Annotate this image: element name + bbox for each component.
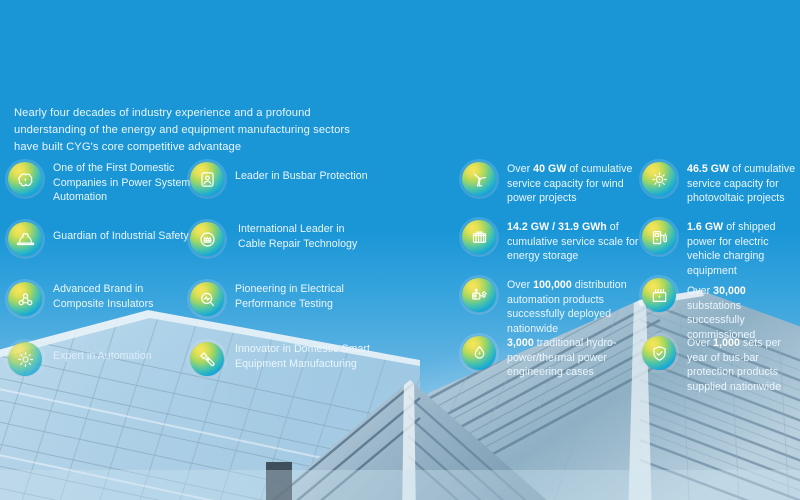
list-item-label: Advanced Brand in Composite Insulators xyxy=(42,280,193,311)
stat-item-label: Over 1,000 sets per year of bus-bar prot… xyxy=(676,334,800,394)
list-item-label: One of the First Domestic Companies in P… xyxy=(42,160,193,205)
ev-charger-icon xyxy=(642,220,676,254)
stat-item[interactable]: 46.5 GW of cumulative service capacity f… xyxy=(642,160,800,218)
energy-storage-icon xyxy=(462,220,496,254)
busbar-protection-icon xyxy=(190,162,224,196)
list-item-label: International Leader in Cable Repair Tec… xyxy=(224,220,375,251)
stat-item-label: Over 30,000 substations successfully com… xyxy=(676,276,800,342)
list-item[interactable]: International Leader in Cable Repair Tec… xyxy=(190,220,375,280)
list-item-label: Expert in Automation xyxy=(42,340,152,364)
strengths-column-2: Leader in Busbar Protection Internationa… xyxy=(190,160,375,400)
stat-item-label: 1.6 GW of shipped power for electric veh… xyxy=(676,218,800,278)
smart-equipment-icon xyxy=(190,342,224,376)
cable-repair-icon xyxy=(190,222,224,256)
stat-item-label: 3,000 traditional hydro-power/thermal po… xyxy=(496,334,644,380)
intro-paragraph: Nearly four decades of industry experien… xyxy=(14,105,364,156)
stat-item[interactable]: 3,000 traditional hydro-power/thermal po… xyxy=(462,334,644,392)
list-item[interactable]: Pioneering in Electrical Performance Tes… xyxy=(190,280,375,340)
substation-icon xyxy=(642,278,676,312)
list-item-label: Pioneering in Electrical Performance Tes… xyxy=(224,280,375,311)
wind-turbine-icon xyxy=(462,162,496,196)
magnifier-waveform-icon xyxy=(190,282,224,316)
list-item[interactable]: Innovator in Domestic Smart Equipment Ma… xyxy=(190,340,375,400)
stat-item-label: 14.2 GW / 31.9 GWh of cumulative service… xyxy=(496,218,644,264)
list-item[interactable]: Expert in Automation xyxy=(8,340,193,400)
solar-photovoltaic-icon xyxy=(642,162,676,196)
stat-item[interactable]: 1.6 GW of shipped power for electric veh… xyxy=(642,218,800,276)
gear-automation-icon xyxy=(8,342,42,376)
list-item[interactable]: Leader in Busbar Protection xyxy=(190,160,375,220)
strengths-column-1: One of the First Domestic Companies in P… xyxy=(8,160,193,400)
list-item[interactable]: Guardian of Industrial Safety xyxy=(8,220,193,280)
list-item-label: Innovator in Domestic Smart Equipment Ma… xyxy=(224,340,375,371)
distribution-automation-icon xyxy=(462,278,496,312)
stat-item[interactable]: Over 100,000 distribution automation pro… xyxy=(462,276,644,334)
stat-item[interactable]: Over 30,000 substations successfully com… xyxy=(642,276,800,334)
stat-item[interactable]: 14.2 GW / 31.9 GWh of cumulative service… xyxy=(462,218,644,276)
stat-item-label: 46.5 GW of cumulative service capacity f… xyxy=(676,160,800,206)
brain-gear-icon xyxy=(8,162,42,196)
list-item[interactable]: One of the First Domestic Companies in P… xyxy=(8,160,193,220)
list-item[interactable]: Advanced Brand in Composite Insulators xyxy=(8,280,193,340)
stat-item-label: Over 40 GW of cumulative service capacit… xyxy=(496,160,644,206)
shield-check-icon xyxy=(642,336,676,370)
stat-item[interactable]: Over 40 GW of cumulative service capacit… xyxy=(462,160,644,218)
hydro-power-icon xyxy=(462,336,496,370)
stats-column-3: Over 40 GW of cumulative service capacit… xyxy=(462,160,644,392)
stats-column-4: 46.5 GW of cumulative service capacity f… xyxy=(642,160,800,392)
hard-hat-icon xyxy=(8,222,42,256)
list-item-label: Guardian of Industrial Safety xyxy=(42,220,189,244)
stat-item-label: Over 100,000 distribution automation pro… xyxy=(496,276,644,336)
composite-insulator-icon xyxy=(8,282,42,316)
list-item-label: Leader in Busbar Protection xyxy=(224,160,368,184)
stat-item[interactable]: Over 1,000 sets per year of bus-bar prot… xyxy=(642,334,800,392)
